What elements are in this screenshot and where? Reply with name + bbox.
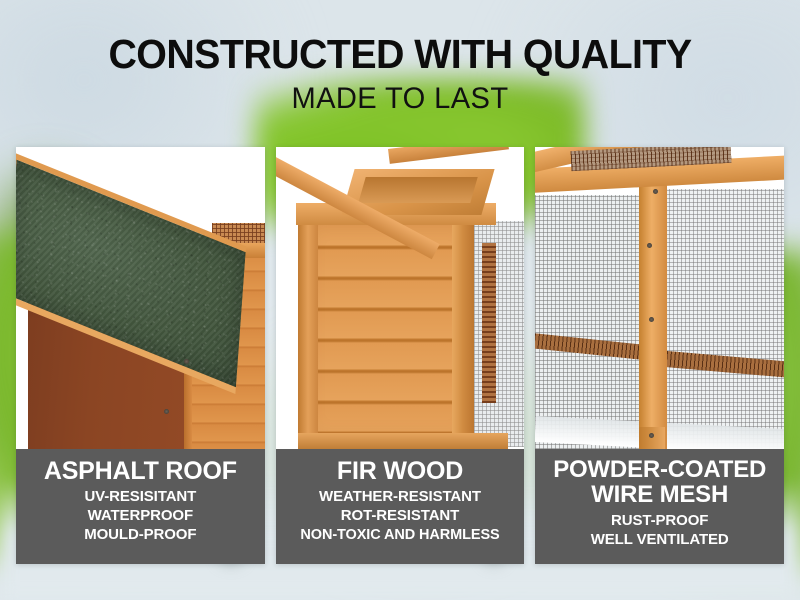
hutch-base-rail <box>298 433 508 449</box>
feature-item: UV-RESISITANT <box>84 488 196 507</box>
roof-rafter-second <box>388 147 509 164</box>
hutch-post-right <box>452 203 474 445</box>
screw-icon <box>164 409 169 414</box>
mesh-wood-strip <box>482 243 496 403</box>
page-subtitle: MADE TO LAST <box>12 84 788 114</box>
feature-item: WEATHER-RESISTANT <box>300 488 499 507</box>
wire-mesh-left-face <box>535 195 643 449</box>
screw-icon <box>184 359 189 364</box>
run-corner-post <box>639 183 667 449</box>
feature-panel-row: ASPHALT ROOF UV-RESISITANT WATERPROOF MO… <box>16 147 784 564</box>
product-photo-asphalt-roof <box>16 147 265 449</box>
hutch-lid-interior <box>358 177 477 203</box>
product-photo-wire-mesh <box>535 147 784 449</box>
caption-feature-list: RUST-PROOF WELL VENTILATED <box>591 512 729 550</box>
run-post-foot <box>639 427 665 449</box>
feature-panel-wire-mesh: POWDER-COATED WIRE MESH RUST-PROOF WELL … <box>535 147 784 564</box>
feature-item: WATERPROOF <box>84 507 196 526</box>
caption-feature-list: WEATHER-RESISTANT ROT-RESISTANT NON-TOXI… <box>300 488 499 544</box>
caption-wire-mesh: POWDER-COATED WIRE MESH RUST-PROOF WELL … <box>535 449 784 564</box>
product-photo-fir-wood <box>276 147 525 449</box>
feature-item: ROT-RESISTANT <box>300 507 499 526</box>
feature-item: NON-TOXIC AND HARMLESS <box>300 526 499 544</box>
fir-plank-siding <box>304 219 474 441</box>
page-title: CONSTRUCTED WITH QUALITY <box>16 34 784 75</box>
caption-title-line2: WIRE MESH <box>591 483 728 508</box>
hutch-post-left <box>298 213 318 445</box>
wire-mesh-right-face <box>665 189 784 449</box>
caption-asphalt-roof: ASPHALT ROOF UV-RESISITANT WATERPROOF MO… <box>16 449 265 564</box>
feature-panel-asphalt-roof: ASPHALT ROOF UV-RESISITANT WATERPROOF MO… <box>16 147 265 564</box>
caption-title: POWDER-COATED <box>553 458 766 483</box>
feature-item: RUST-PROOF <box>591 512 729 531</box>
feature-item: MOULD-PROOF <box>84 526 196 545</box>
feature-panel-fir-wood: FIR WOOD WEATHER-RESISTANT ROT-RESISTANT… <box>276 147 525 564</box>
caption-title: ASPHALT ROOF <box>44 458 237 484</box>
caption-feature-list: UV-RESISITANT WATERPROOF MOULD-PROOF <box>84 488 196 545</box>
caption-fir-wood: FIR WOOD WEATHER-RESISTANT ROT-RESISTANT… <box>276 449 525 564</box>
caption-title: FIR WOOD <box>337 458 463 484</box>
feature-item: WELL VENTILATED <box>591 531 729 550</box>
header-block: CONSTRUCTED WITH QUALITY MADE TO LAST <box>0 34 800 114</box>
